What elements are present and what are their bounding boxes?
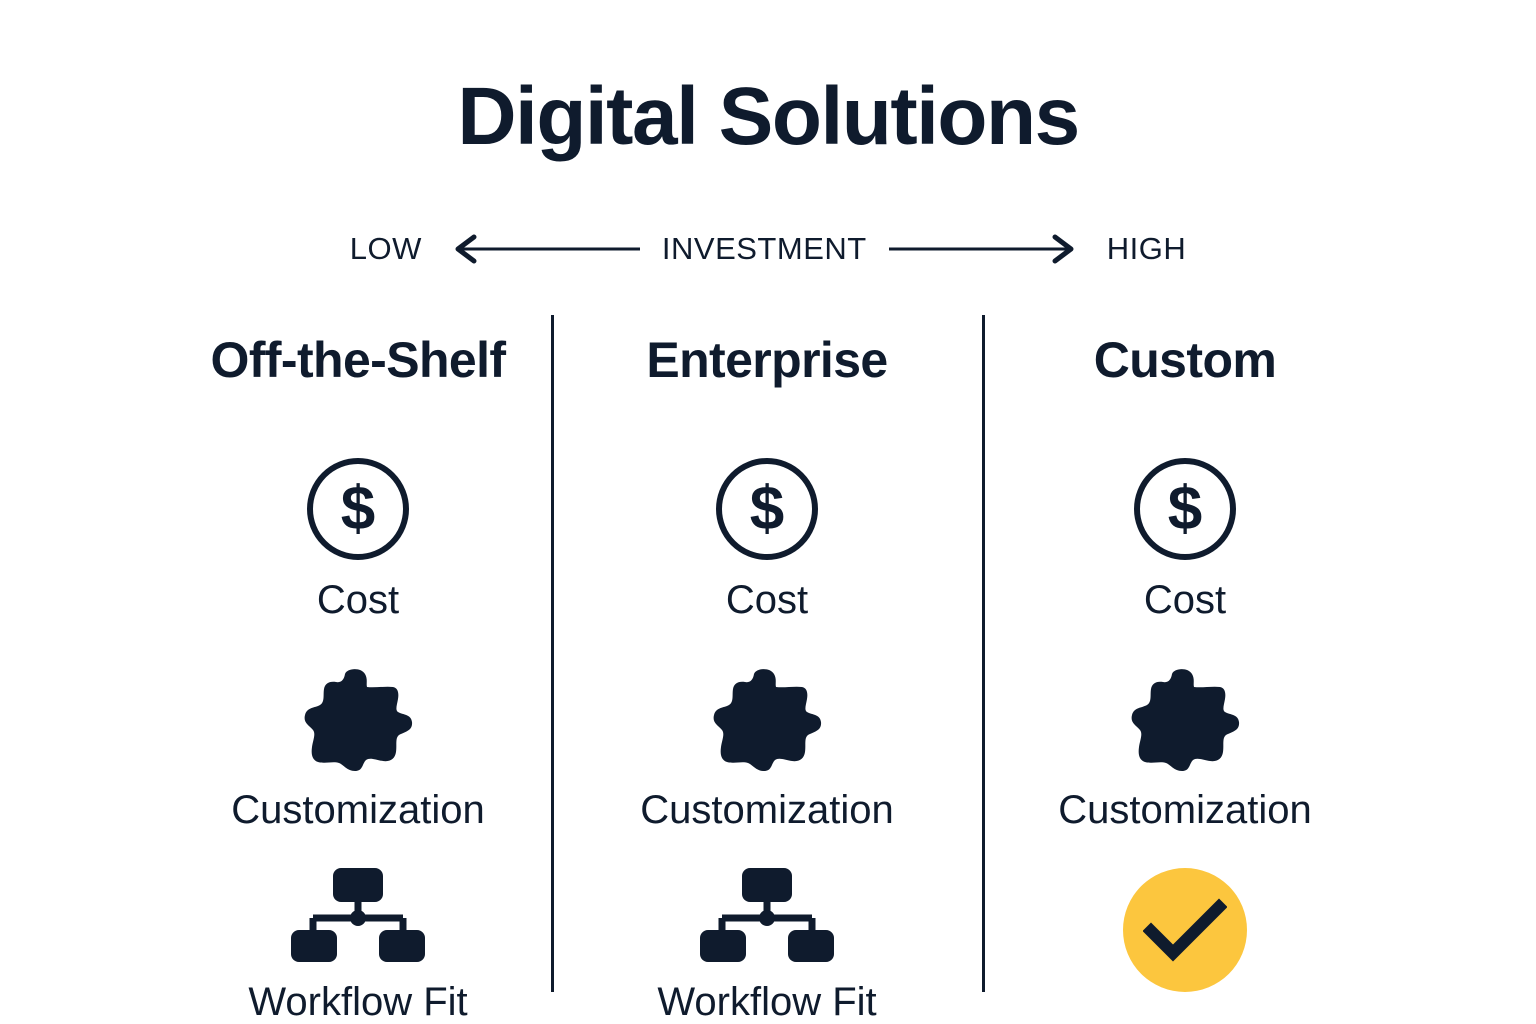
- row-customization-off-the-shelf: Customization: [231, 668, 484, 830]
- row-cost-off-the-shelf: $ Cost: [305, 456, 411, 620]
- svg-text:$: $: [1168, 475, 1202, 544]
- axis-low-label: LOW: [350, 231, 422, 267]
- row-customization-custom: Customization: [1058, 668, 1311, 830]
- investment-axis: LOW INVESTMENT HIGH: [0, 226, 1536, 272]
- column-title-enterprise: Enterprise: [646, 330, 887, 390]
- axis-high-label: HIGH: [1107, 231, 1187, 267]
- row-customization-enterprise: Customization: [640, 668, 893, 830]
- page-title: Digital Solutions: [0, 76, 1536, 158]
- row-workflow-enterprise: Workflow Fit: [657, 868, 876, 1022]
- row-label-customization: Customization: [231, 790, 484, 830]
- row-label-cost: Cost: [317, 580, 399, 620]
- dollar-circle-icon: $: [305, 456, 411, 562]
- row-label-cost: Cost: [1144, 580, 1226, 620]
- check-circle-icon: [1123, 868, 1247, 992]
- row-cost-enterprise: $ Cost: [714, 456, 820, 620]
- puzzle-piece-icon: [303, 668, 413, 772]
- arrow-left-icon: [444, 234, 640, 264]
- row-label-customization: Customization: [640, 790, 893, 830]
- row-recommended-custom: [1123, 868, 1247, 992]
- row-label-customization: Customization: [1058, 790, 1311, 830]
- row-cost-custom: $ Cost: [1132, 456, 1238, 620]
- puzzle-piece-icon: [712, 668, 822, 772]
- row-workflow-off-the-shelf: Workflow Fit: [248, 868, 467, 1022]
- puzzle-piece-icon: [1130, 668, 1240, 772]
- axis-center-label: INVESTMENT: [662, 231, 867, 267]
- column-title-off-the-shelf: Off-the-Shelf: [211, 330, 506, 390]
- row-label-workflow-fit: Workflow Fit: [657, 982, 876, 1022]
- arrow-right-icon: [889, 234, 1085, 264]
- row-label-workflow-fit: Workflow Fit: [248, 982, 467, 1022]
- column-off-the-shelf: Off-the-Shelf $ Cost Customization: [148, 330, 568, 1022]
- column-title-custom: Custom: [1094, 330, 1277, 390]
- infographic-canvas: Digital Solutions LOW INVESTMENT HIGH Of…: [0, 0, 1536, 1024]
- svg-text:$: $: [750, 475, 784, 544]
- column-enterprise: Enterprise $ Cost Customization: [557, 330, 977, 1022]
- row-label-cost: Cost: [726, 580, 808, 620]
- svg-text:$: $: [341, 475, 375, 544]
- column-custom: Custom $ Cost Customization: [975, 330, 1395, 992]
- comparison-columns: Off-the-Shelf $ Cost Customization: [0, 330, 1536, 1024]
- org-chart-icon: [291, 868, 425, 964]
- dollar-circle-icon: $: [1132, 456, 1238, 562]
- org-chart-icon: [700, 868, 834, 964]
- dollar-circle-icon: $: [714, 456, 820, 562]
